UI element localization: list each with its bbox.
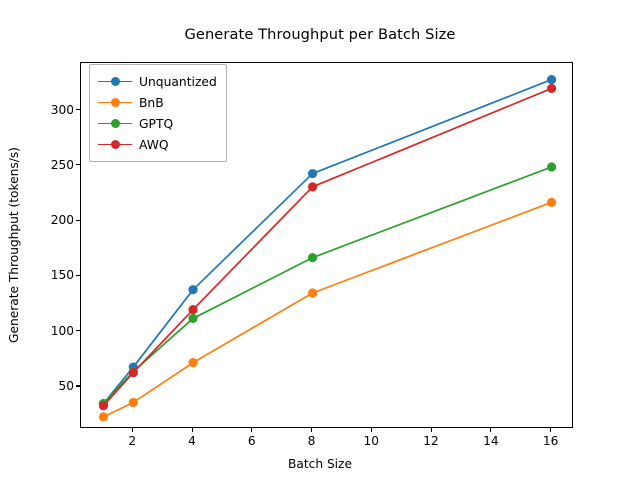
data-point <box>547 162 556 171</box>
chart-title: Generate Throughput per Batch Size <box>0 26 640 43</box>
legend-dot <box>111 140 120 149</box>
x-tick-label: 12 <box>411 434 451 448</box>
y-axis-label-wrapper: Generate Throughput (tokens/s) <box>0 0 30 480</box>
x-tick-label: 4 <box>172 434 212 448</box>
y-axis-label: Generate Throughput (tokens/s) <box>7 145 21 345</box>
data-point <box>308 253 317 262</box>
legend-dot <box>111 77 120 86</box>
data-point <box>188 285 197 294</box>
x-tick-label: 8 <box>292 434 332 448</box>
legend-item-unquantized: Unquantized <box>98 71 217 92</box>
data-point <box>188 358 197 367</box>
y-tick-label: 200 <box>0 213 74 227</box>
data-point <box>99 401 108 410</box>
y-tick-label: 100 <box>0 324 74 338</box>
data-point <box>547 75 556 84</box>
y-tick-label: 150 <box>0 268 74 282</box>
legend-label: GPTQ <box>139 117 173 131</box>
legend-item-bnb: BnB <box>98 92 217 113</box>
data-point <box>308 288 317 297</box>
data-point <box>129 398 138 407</box>
series-bnb <box>99 198 556 422</box>
y-tick-label: 300 <box>0 103 74 117</box>
x-tick-label: 14 <box>471 434 511 448</box>
data-point <box>129 368 138 377</box>
legend: UnquantizedBnBGPTQAWQ <box>89 64 227 162</box>
data-point <box>99 412 108 421</box>
x-tick-label: 6 <box>232 434 272 448</box>
y-tick-label: 50 <box>0 379 74 393</box>
x-tick-label: 16 <box>531 434 571 448</box>
legend-dot <box>111 119 120 128</box>
legend-item-awq: AWQ <box>98 134 217 155</box>
legend-marker-icon <box>98 75 132 89</box>
x-tick-label: 10 <box>351 434 391 448</box>
series-gptq <box>99 162 556 408</box>
data-point <box>188 305 197 314</box>
data-point <box>188 314 197 323</box>
data-point <box>308 182 317 191</box>
x-axis-label: Batch Size <box>0 457 640 471</box>
legend-label: BnB <box>139 96 164 110</box>
chart-figure: Generate Throughput per Batch Size Gener… <box>0 0 640 480</box>
series-line <box>103 202 551 417</box>
legend-marker-icon <box>98 138 132 152</box>
legend-dot <box>111 98 120 107</box>
y-tick-label: 250 <box>0 158 74 172</box>
data-point <box>308 169 317 178</box>
legend-marker-icon <box>98 117 132 131</box>
legend-item-gptq: GPTQ <box>98 113 217 134</box>
x-tick-label: 2 <box>112 434 152 448</box>
legend-label: AWQ <box>139 138 169 152</box>
data-point <box>547 84 556 93</box>
data-point <box>547 198 556 207</box>
legend-label: Unquantized <box>139 75 217 89</box>
legend-marker-icon <box>98 96 132 110</box>
series-line <box>103 167 551 404</box>
